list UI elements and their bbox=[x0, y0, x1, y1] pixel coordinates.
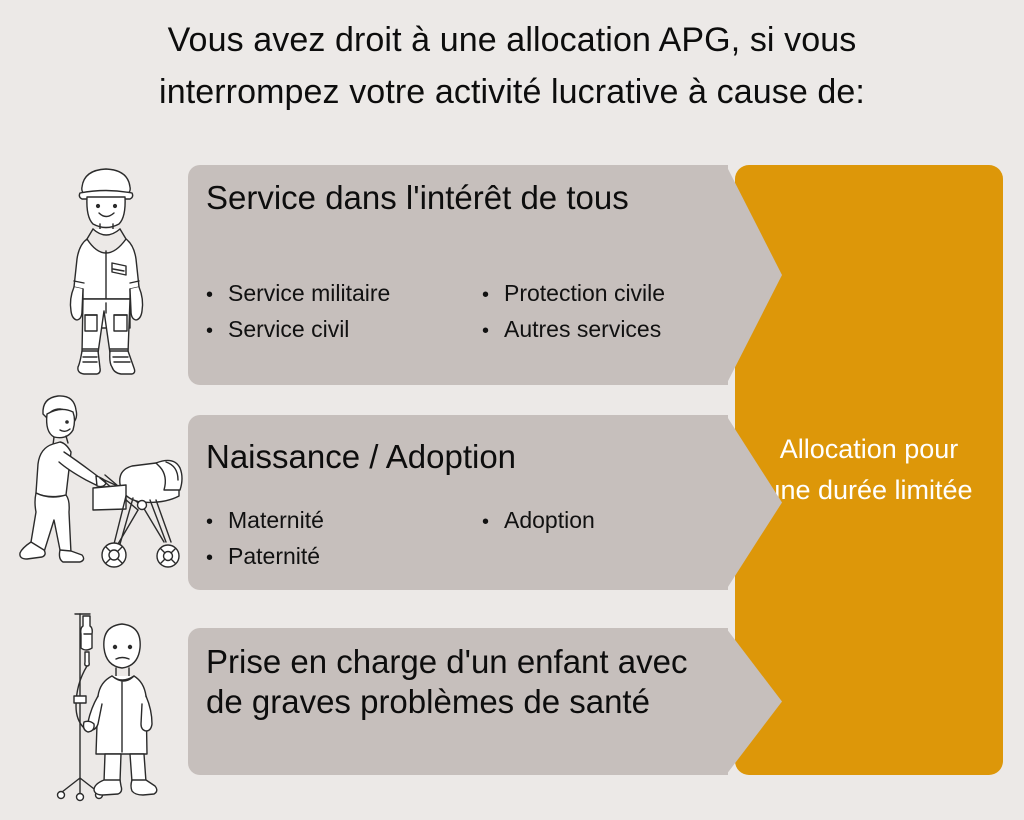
panel-heading-childcare: Prise en charge d'un enfant avec de grav… bbox=[206, 642, 688, 722]
list-item: • Adoption bbox=[482, 503, 758, 539]
list-item-label: Paternité bbox=[228, 539, 320, 573]
bullet-dot-icon: • bbox=[206, 278, 228, 312]
chevron-arrow-icon bbox=[726, 628, 782, 775]
soldier-illustration bbox=[52, 163, 160, 378]
list-item: • Service civil bbox=[206, 312, 482, 348]
list-item: • Autres services bbox=[482, 312, 758, 348]
list-item-label: Service civil bbox=[228, 312, 349, 346]
panel-heading-birth: Naissance / Adoption bbox=[206, 437, 688, 477]
bullet-column-right: • Protection civile • Autres services bbox=[482, 276, 758, 348]
title-line-1: Vous avez droit à une allocation APG, si… bbox=[0, 14, 1024, 66]
panel-bullets-birth: • Maternité • Paternité • Adoption bbox=[206, 503, 758, 575]
list-item-label: Autres services bbox=[504, 312, 661, 346]
page-title: Vous avez droit à une allocation APG, si… bbox=[0, 14, 1024, 118]
bullet-dot-icon: • bbox=[206, 505, 228, 539]
category-panel-service: Service dans l'intérêt de tous • Service… bbox=[188, 165, 728, 385]
list-item: • Maternité bbox=[206, 503, 482, 539]
panel-heading-service: Service dans l'intérêt de tous bbox=[206, 178, 688, 218]
list-item: • Service militaire bbox=[206, 276, 482, 312]
category-panel-childcare: Prise en charge d'un enfant avec de grav… bbox=[188, 628, 728, 775]
pram-illustration bbox=[14, 392, 188, 586]
panel-bullets-service: • Service militaire • Service civil • Pr… bbox=[206, 276, 758, 348]
bullet-dot-icon: • bbox=[482, 278, 504, 312]
bullet-column-left: • Maternité • Paternité bbox=[206, 503, 482, 575]
title-line-2: interrompez votre activité lucrative à c… bbox=[0, 66, 1024, 118]
bullet-dot-icon: • bbox=[206, 314, 228, 348]
list-item-label: Adoption bbox=[504, 503, 595, 537]
list-item: • Protection civile bbox=[482, 276, 758, 312]
bullet-column-right: • Adoption bbox=[482, 503, 758, 575]
list-item: • Paternité bbox=[206, 539, 482, 575]
bullet-dot-icon: • bbox=[206, 541, 228, 575]
chevron-arrow-icon bbox=[726, 165, 782, 385]
category-panel-birth: Naissance / Adoption • Maternité • Pater… bbox=[188, 415, 728, 590]
bullet-column-left: • Service militaire • Service civil bbox=[206, 276, 482, 348]
bullet-dot-icon: • bbox=[482, 314, 504, 348]
list-item-label: Service militaire bbox=[228, 276, 390, 310]
infographic-stage: Vous avez droit à une allocation APG, si… bbox=[0, 0, 1024, 820]
bullet-dot-icon: • bbox=[482, 505, 504, 539]
patient-illustration bbox=[50, 604, 174, 804]
list-item-label: Protection civile bbox=[504, 276, 665, 310]
list-item-label: Maternité bbox=[228, 503, 324, 537]
result-panel-label: Allocation pour une durée limitée bbox=[757, 429, 982, 511]
